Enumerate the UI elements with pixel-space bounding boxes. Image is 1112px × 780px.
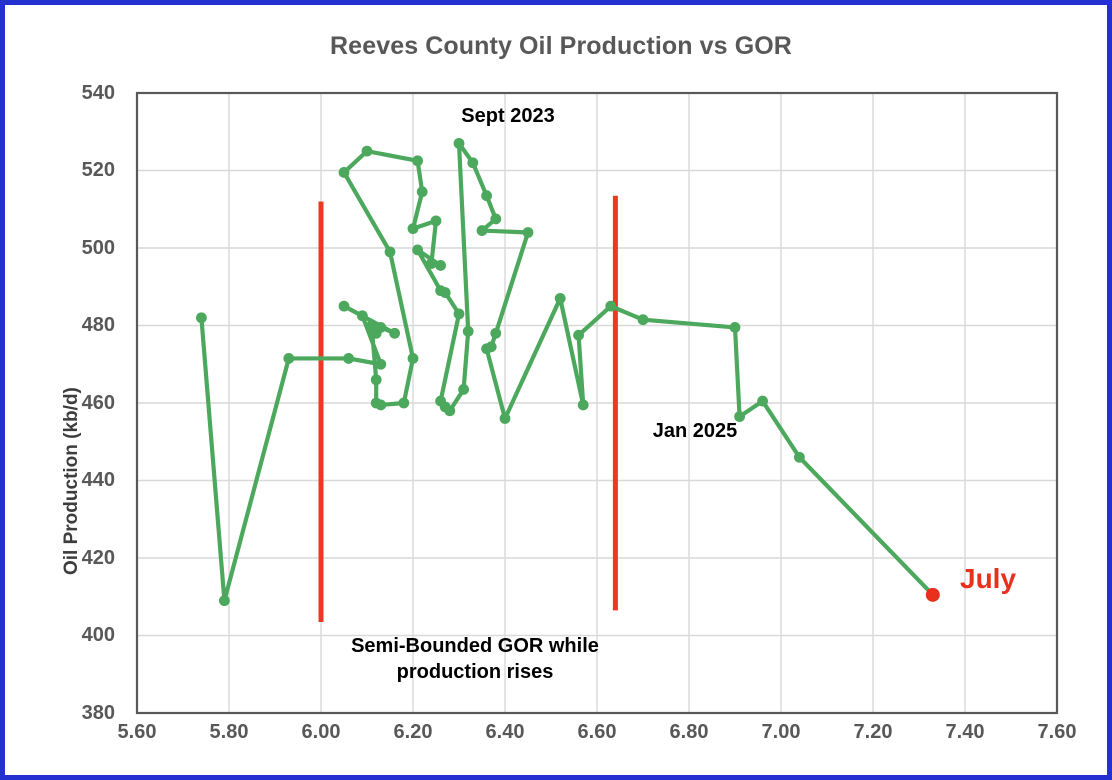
annotation-semi-bounded-line1: Semi-Bounded GOR while [305, 635, 645, 658]
data-point-marker [339, 167, 350, 178]
annotation-july: July [960, 563, 1016, 595]
data-point-marker [362, 146, 373, 157]
data-point-marker [371, 374, 382, 385]
data-point-marker [398, 398, 409, 409]
data-point-marker [757, 396, 768, 407]
data-point-marker [730, 322, 741, 333]
data-point-marker [375, 400, 386, 411]
data-point-marker [426, 258, 437, 269]
data-point-marker [555, 293, 566, 304]
data-point-marker [385, 246, 396, 257]
data-point-marker [573, 330, 584, 341]
data-point-marker [417, 186, 428, 197]
annotation-sept-2023: Sept 2023 [398, 105, 618, 128]
data-point-marker [375, 359, 386, 370]
data-point-marker [357, 310, 368, 321]
data-point-marker [605, 301, 616, 312]
data-point-marker [578, 400, 589, 411]
data-point-marker [481, 190, 492, 201]
chart-container: Reeves County Oil Production vs GOR Oil … [0, 0, 1112, 780]
data-point-marker [196, 312, 207, 323]
data-point-marker [490, 328, 501, 339]
series-line-oil-vs-gor [201, 143, 932, 600]
data-point-marker [343, 353, 354, 364]
data-point-marker [283, 353, 294, 364]
data-point-marker [481, 343, 492, 354]
data-point-marker [454, 138, 465, 149]
data-point-marker [523, 227, 534, 238]
data-point-marker [412, 155, 423, 166]
annotation-semi-bounded-line2: production rises [305, 661, 645, 684]
data-point-marker [500, 413, 511, 424]
data-point-marker [440, 287, 451, 298]
data-point-marker [638, 314, 649, 325]
data-point-marker-july [926, 588, 940, 602]
annotation-jan-2025: Jan 2025 [595, 420, 795, 443]
data-series [196, 138, 940, 606]
data-point-marker [444, 405, 455, 416]
data-point-marker [408, 223, 419, 234]
data-point-marker [794, 452, 805, 463]
data-point-marker [435, 260, 446, 271]
data-point-marker [490, 214, 501, 225]
data-point-marker [408, 353, 419, 364]
data-point-marker [339, 301, 350, 312]
data-point-marker [366, 320, 377, 331]
data-point-marker [467, 157, 478, 168]
data-point-marker [412, 245, 423, 256]
data-point-marker [458, 384, 469, 395]
data-point-marker [219, 595, 230, 606]
data-point-marker [463, 326, 474, 337]
data-point-marker [454, 308, 465, 319]
data-point-marker [431, 215, 442, 226]
data-point-marker [477, 225, 488, 236]
data-point-marker [389, 328, 400, 339]
